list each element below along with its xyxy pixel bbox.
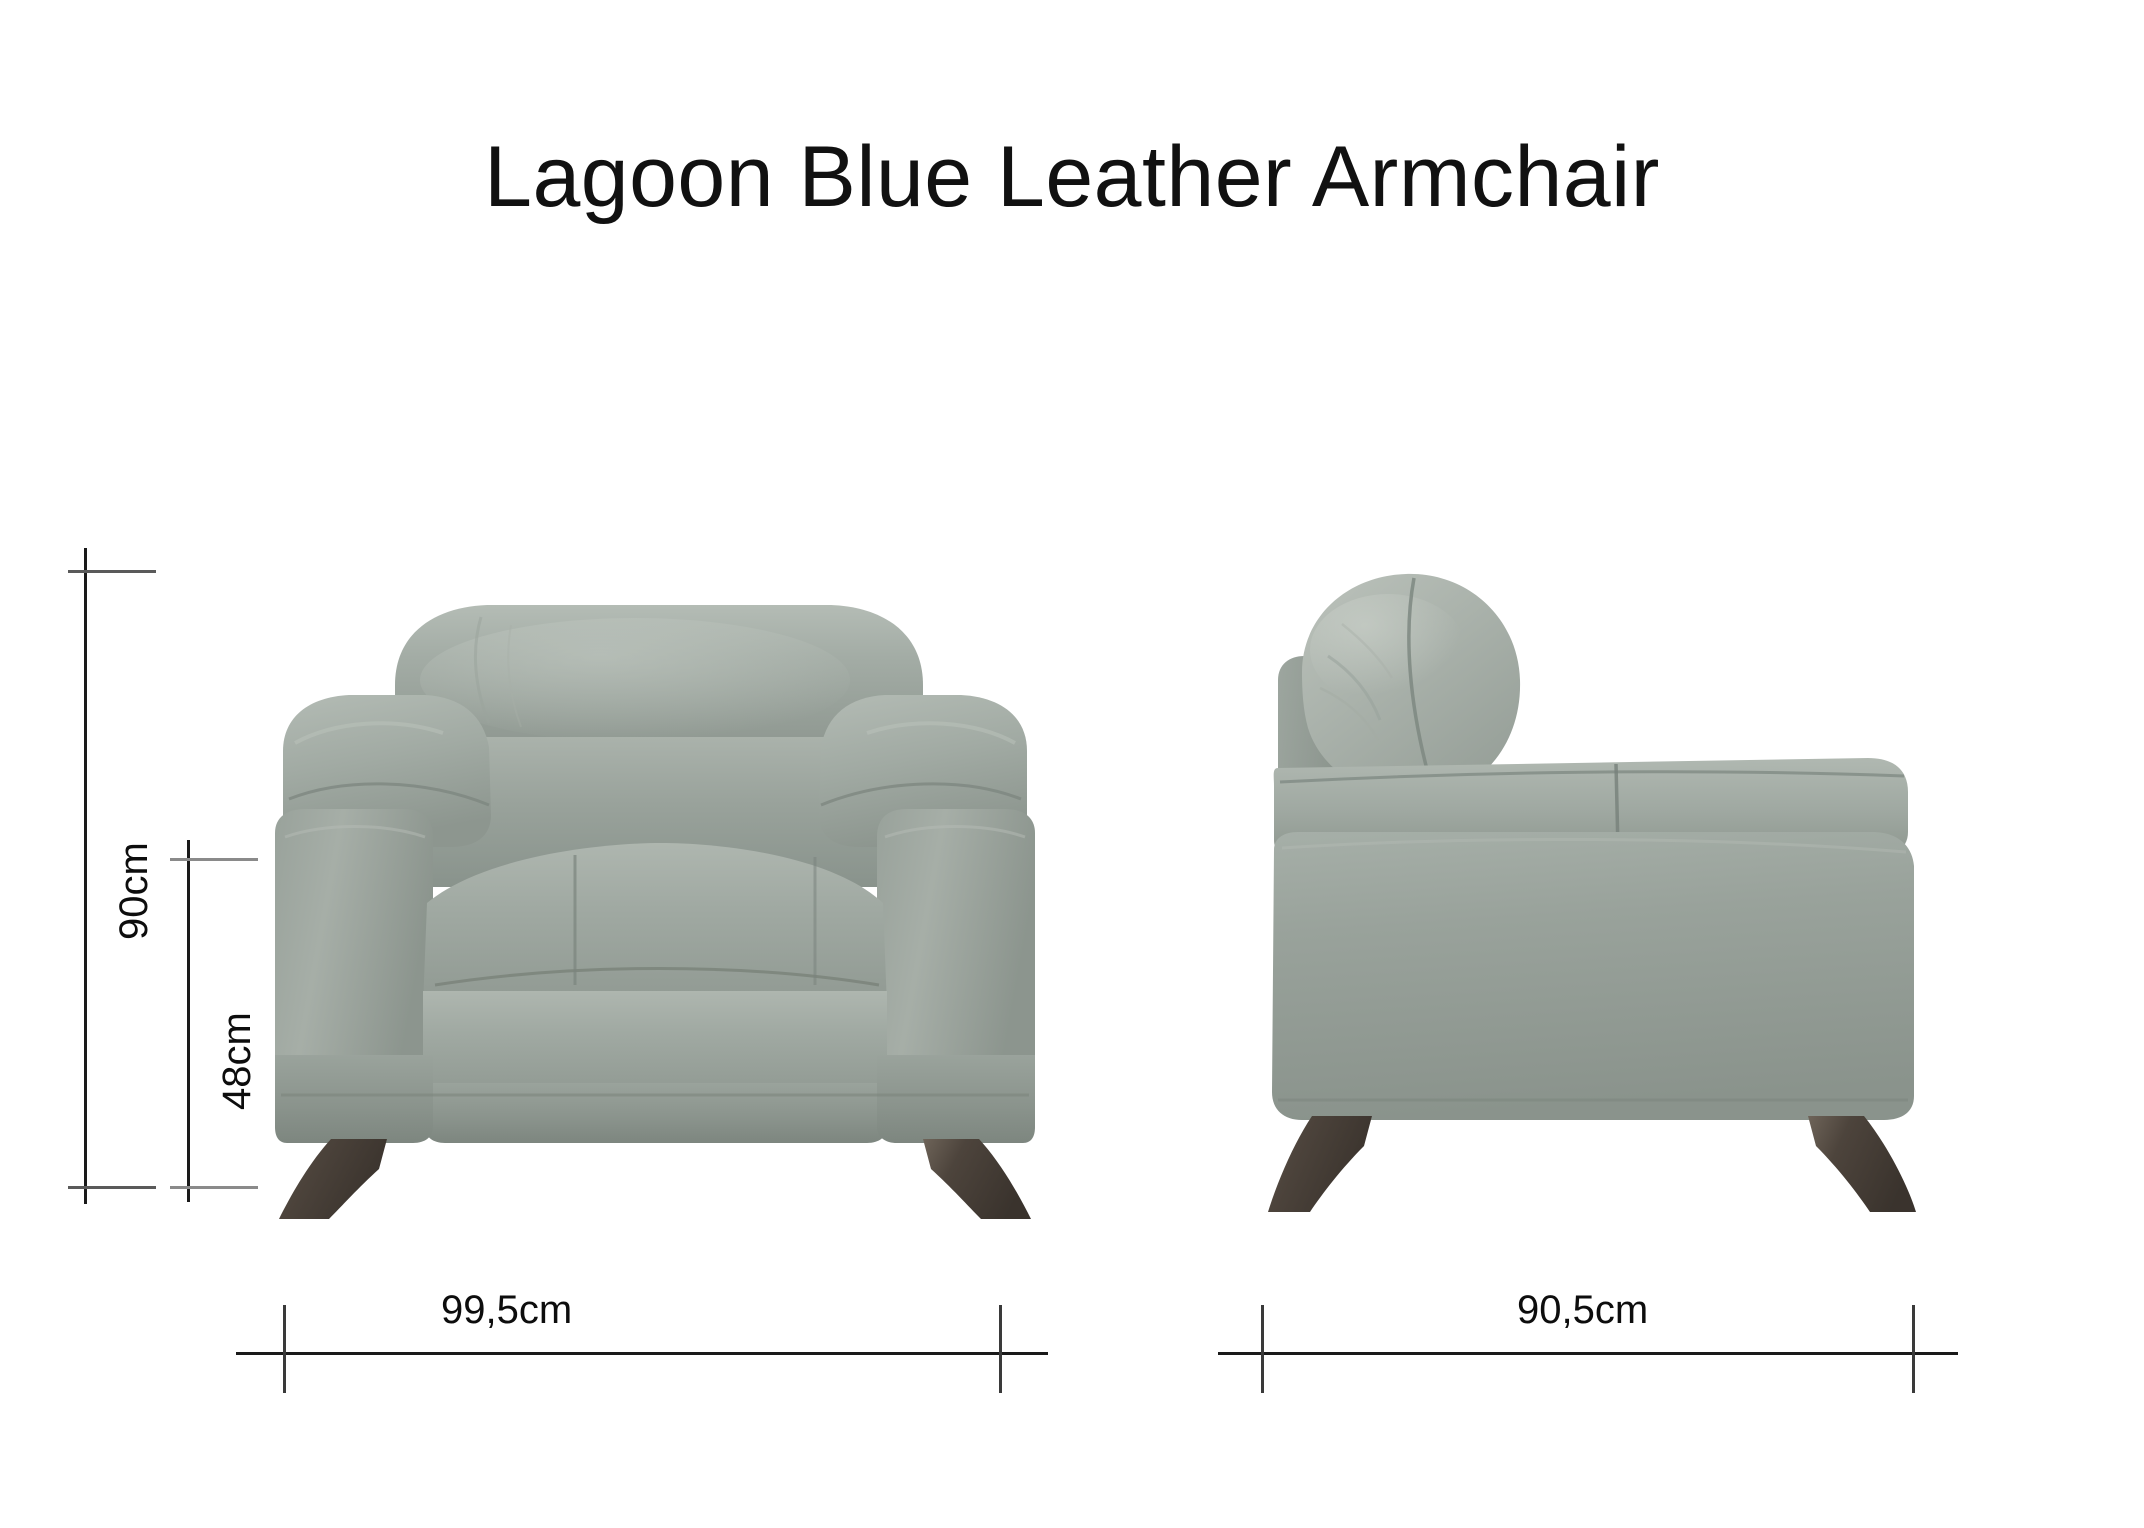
dimension-line-width-front	[236, 1352, 1048, 1355]
dimension-tick-height-seat-bottom	[170, 1186, 258, 1189]
product-dimension-sheet: Lagoon Blue Leather Armchair	[0, 0, 2144, 1528]
dimension-tick-depth-side-left	[1261, 1305, 1264, 1393]
dimension-label-depth-side: 90,5cm	[1517, 1288, 1917, 1333]
dimension-label-height-overall: 90cm	[112, 842, 157, 940]
dimension-line-height-overall	[84, 548, 87, 1204]
front-view-illustration	[275, 555, 1035, 1220]
dimension-tick-width-front-right	[999, 1305, 1002, 1393]
dimension-tick-height-overall-top	[68, 570, 156, 573]
dimension-tick-height-overall-bottom	[68, 1186, 156, 1189]
side-view-illustration	[1268, 560, 1948, 1220]
dimension-tick-width-front-left	[283, 1305, 286, 1393]
dimension-label-width-front: 99,5cm	[441, 1288, 841, 1333]
dimension-line-depth-side	[1218, 1352, 1958, 1355]
dimension-line-height-seat	[187, 840, 190, 1202]
dimension-label-height-seat: 48cm	[215, 1012, 260, 1110]
dimension-tick-height-seat-top	[170, 858, 258, 861]
page-title: Lagoon Blue Leather Armchair	[0, 128, 2144, 227]
